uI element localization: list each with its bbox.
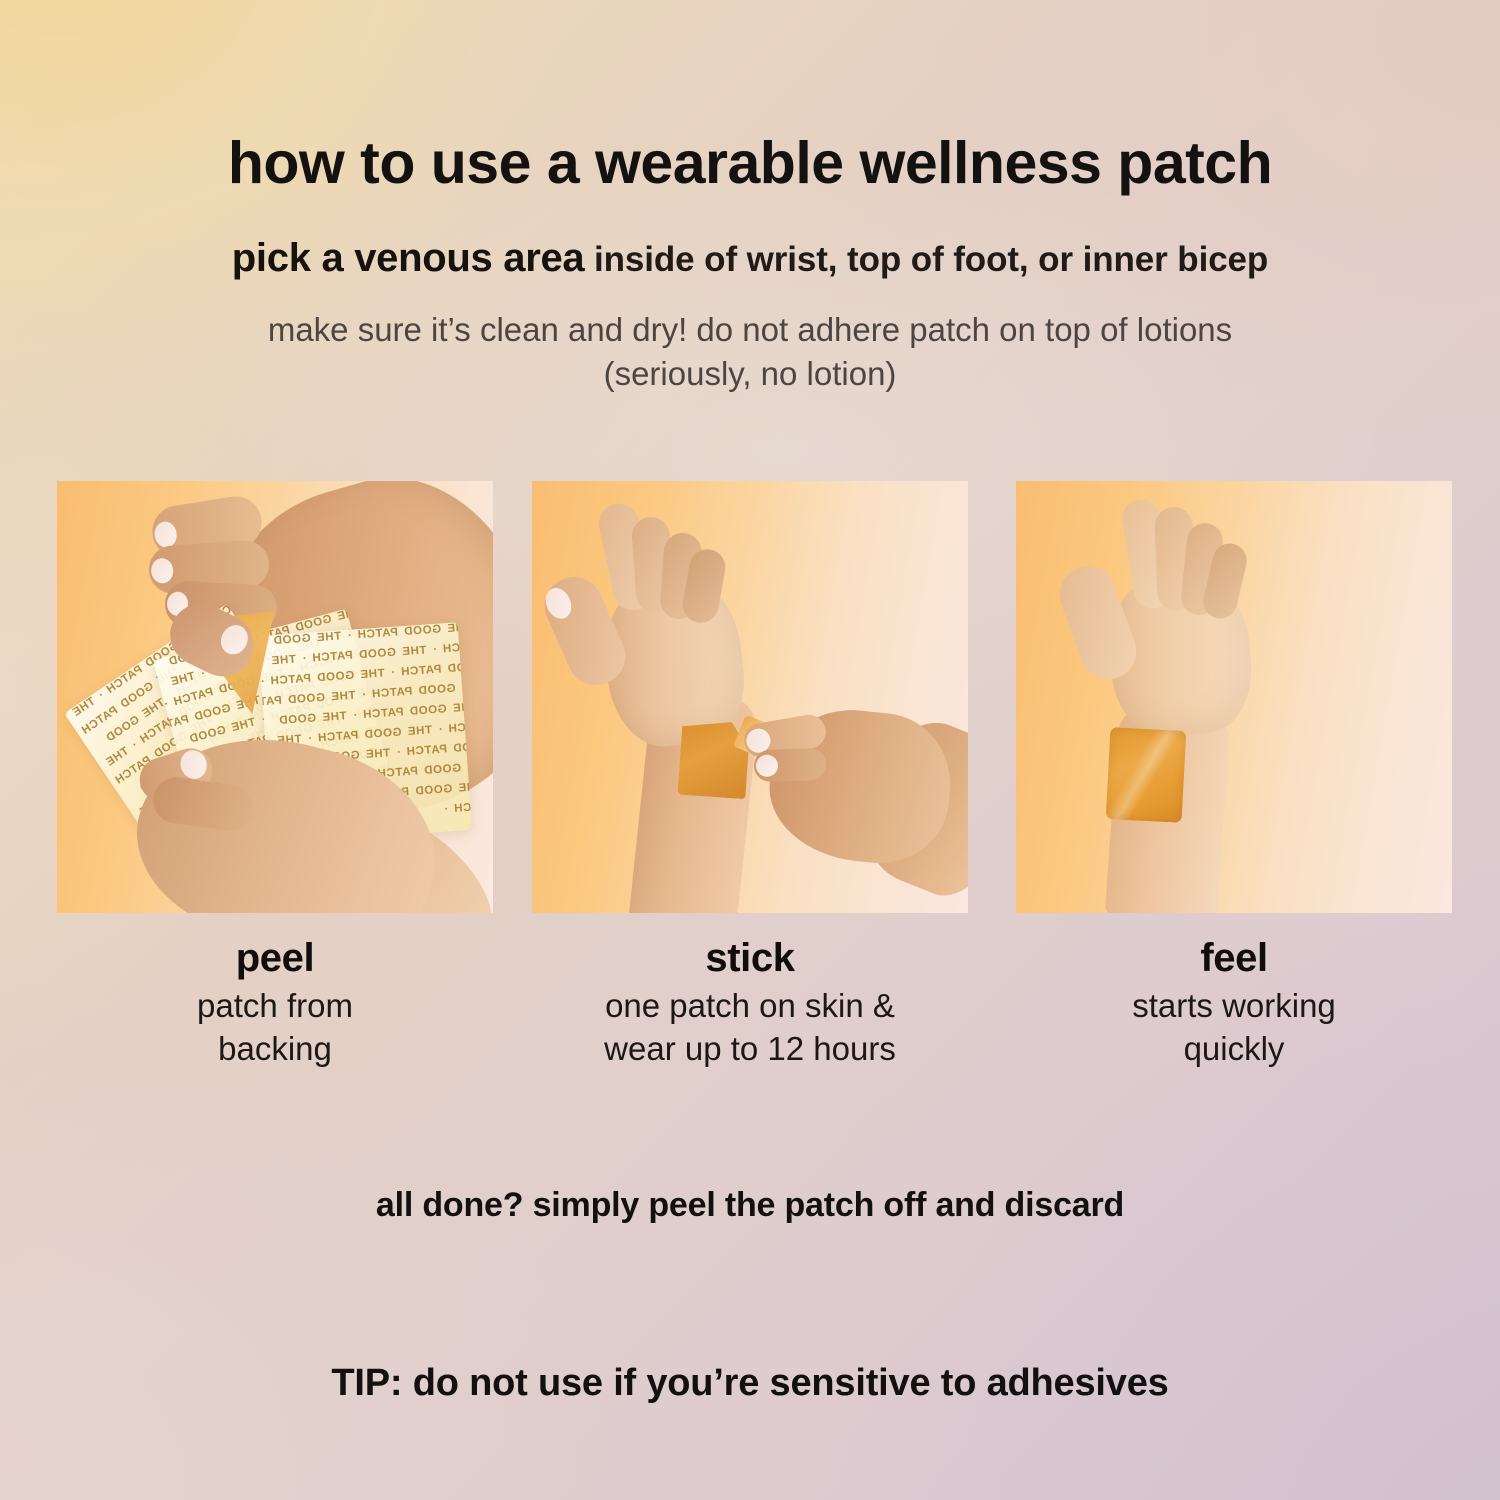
step-photo-stick — [532, 481, 968, 913]
step-caption-peel: peel patch from backing — [57, 935, 493, 1071]
fingernail — [150, 558, 174, 584]
steps-photo-row: THE GOOD PATCH · THE GOOD PATCH · THE GO… — [0, 481, 1500, 913]
applying-hand-middle-finger — [753, 748, 826, 782]
step-caption-stick: stick one patch on skin & wear up to 12 … — [532, 935, 968, 1071]
step-word-peel: peel — [57, 935, 493, 982]
page-title: how to use a wearable wellness patch — [0, 133, 1500, 195]
step-desc-feel: starts working quickly — [1016, 985, 1452, 1071]
lede-subtext-line-1: make sure it’s clean and dry! do not adh… — [0, 308, 1500, 352]
lede-subtext: make sure it’s clean and dry! do not adh… — [0, 308, 1500, 396]
infographic-page: how to use a wearable wellness patch pic… — [0, 0, 1500, 1500]
lede-subtext-line-2: (seriously, no lotion) — [0, 352, 1500, 396]
step-photo-peel: THE GOOD PATCH · THE GOOD PATCH · THE GO… — [57, 481, 493, 913]
step-desc-peel: patch from backing — [57, 985, 493, 1071]
applied-patch — [1106, 727, 1187, 823]
step-word-stick: stick — [532, 935, 968, 982]
step-word-feel: feel — [1016, 935, 1452, 982]
step-photo-feel — [1016, 481, 1452, 913]
thumbnail — [216, 621, 253, 659]
step-desc-line-2: backing — [57, 1028, 493, 1071]
step-desc-line-1: one patch on skin & — [532, 985, 968, 1028]
lede-light: inside of wrist, top of foot, or inner b… — [584, 240, 1268, 279]
step-caption-feel: feel starts working quickly — [1016, 935, 1452, 1071]
step-desc-stick: one patch on skin & wear up to 12 hours — [532, 985, 968, 1071]
step-desc-line-1: patch from — [57, 985, 493, 1028]
tip-note: TIP: do not use if you’re sensitive to a… — [0, 1362, 1500, 1405]
step-desc-line-2: wear up to 12 hours — [532, 1028, 968, 1071]
step-desc-line-1: starts working — [1016, 985, 1452, 1028]
lede-strong: pick a venous area — [232, 236, 585, 280]
footer-note: all done? simply peel the patch off and … — [0, 1186, 1500, 1225]
step-desc-line-2: quickly — [1016, 1028, 1452, 1071]
lede-line: pick a venous area inside of wrist, top … — [0, 236, 1500, 281]
fingernail — [756, 754, 779, 777]
